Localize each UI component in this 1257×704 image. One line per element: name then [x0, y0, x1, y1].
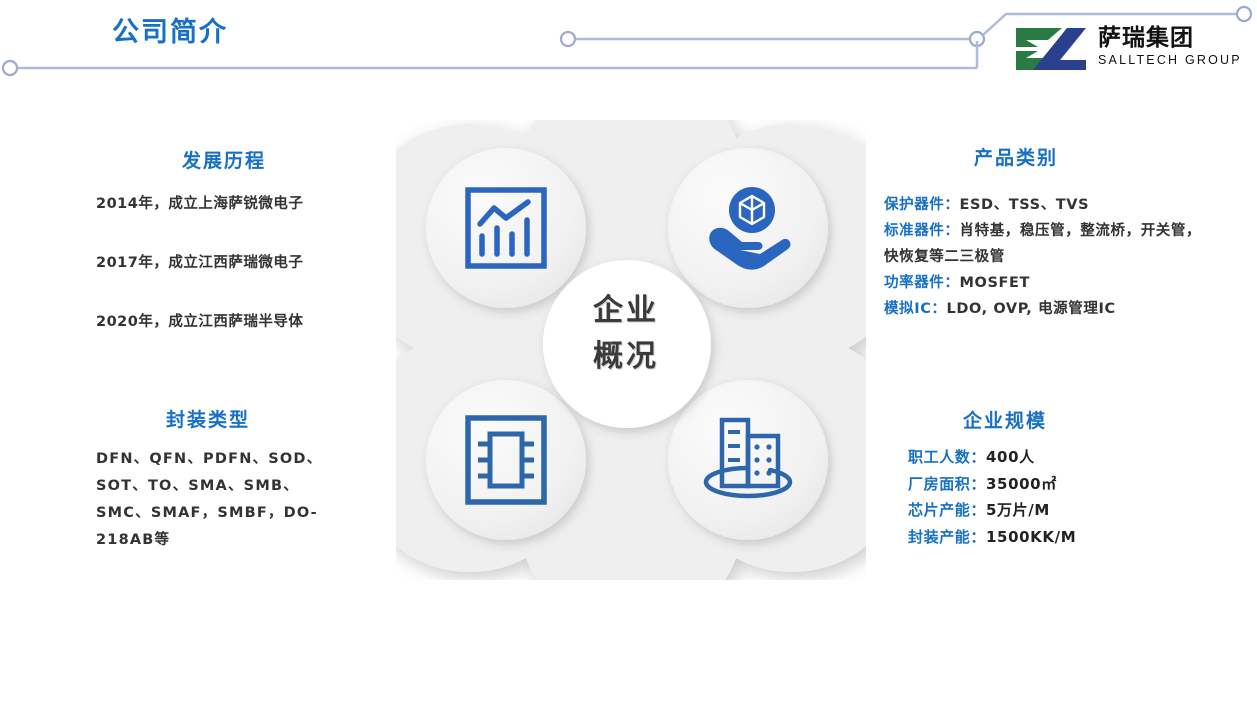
slide-root: 公司简介 萨瑞集团 SALLTECH GROUP 发展历程 2014年，成立上海…	[0, 0, 1257, 704]
scale-row: 芯片产能：5万片/M	[908, 497, 1208, 524]
products-list: 保护器件：ESD、TSS、TVS 标准器件：肖特基，稳压管，整流桥，开关管，快恢…	[884, 192, 1214, 322]
scale-label: 封装产能：	[908, 528, 986, 546]
scale-value: 400人	[986, 448, 1035, 466]
product-label: 标准器件：	[884, 223, 960, 239]
product-label: 模拟IC：	[884, 301, 947, 317]
section-title-packages: 封装类型	[166, 405, 250, 432]
scale-value: 5万片/M	[986, 501, 1050, 519]
header: 公司简介 萨瑞集团 SALLTECH GROUP	[0, 0, 1257, 95]
product-row: 保护器件：ESD、TSS、TVS	[884, 192, 1214, 218]
history-item: 2020年，成立江西萨瑞半导体	[96, 310, 396, 331]
node-top-left[interactable]	[426, 148, 586, 308]
product-label: 功率器件：	[884, 275, 960, 291]
product-label: 保护器件：	[884, 197, 960, 213]
scale-value: 1500KK/M	[986, 528, 1076, 546]
company-logo: 萨瑞集团 SALLTECH GROUP	[1012, 24, 1248, 80]
page-title: 公司简介	[112, 10, 228, 49]
center-label-line2: 概况	[565, 334, 687, 380]
node-bottom-left[interactable]	[426, 380, 586, 540]
packages-text: DFN、QFN、PDFN、SOD、SOT、TO、SMA、SMB、SMC、SMAF…	[96, 446, 348, 554]
scale-value: 35000㎡	[986, 475, 1057, 493]
scale-label: 芯片产能：	[908, 501, 986, 519]
product-row: 功率器件：MOSFET	[884, 270, 1214, 296]
scale-row: 厂房面积：35000㎡	[908, 471, 1208, 498]
logo-text: 萨瑞集团 SALLTECH GROUP	[1098, 24, 1248, 68]
scale-row: 封装产能：1500KK/M	[908, 524, 1208, 551]
section-title-products: 产品类别	[974, 143, 1058, 170]
history-item: 2017年，成立江西萨瑞微电子	[96, 251, 396, 272]
product-value: ESD、TSS、TVS	[960, 197, 1090, 213]
history-list: 2014年，成立上海萨锐微电子 2017年，成立江西萨瑞微电子 2020年，成立…	[96, 192, 396, 369]
logo-english-name: SALLTECH GROUP	[1098, 52, 1248, 68]
product-row: 标准器件：肖特基，稳压管，整流桥，开关管，快恢复等二三极管	[884, 218, 1214, 270]
product-value: MOSFET	[960, 275, 1031, 291]
section-title-history: 发展历程	[182, 146, 266, 173]
product-row: 模拟IC：LDO, OVP, 电源管理IC	[884, 296, 1214, 322]
scale-label: 厂房面积：	[908, 475, 986, 493]
section-title-scale: 企业规模	[963, 406, 1047, 433]
product-value: LDO, OVP, 电源管理IC	[947, 301, 1116, 317]
history-item: 2014年，成立上海萨锐微电子	[96, 192, 396, 213]
scale-label: 职工人数：	[908, 448, 986, 466]
center-label-line1: 企业	[565, 288, 687, 334]
scale-row: 职工人数：400人	[908, 444, 1208, 471]
scale-list: 职工人数：400人 厂房面积：35000㎡ 芯片产能：5万片/M 封装产能：15…	[908, 444, 1208, 550]
logo-chinese-name: 萨瑞集团	[1098, 24, 1248, 52]
salltech-logo-mark-icon	[1012, 26, 1090, 72]
center-label: 企业 概况	[565, 288, 687, 380]
